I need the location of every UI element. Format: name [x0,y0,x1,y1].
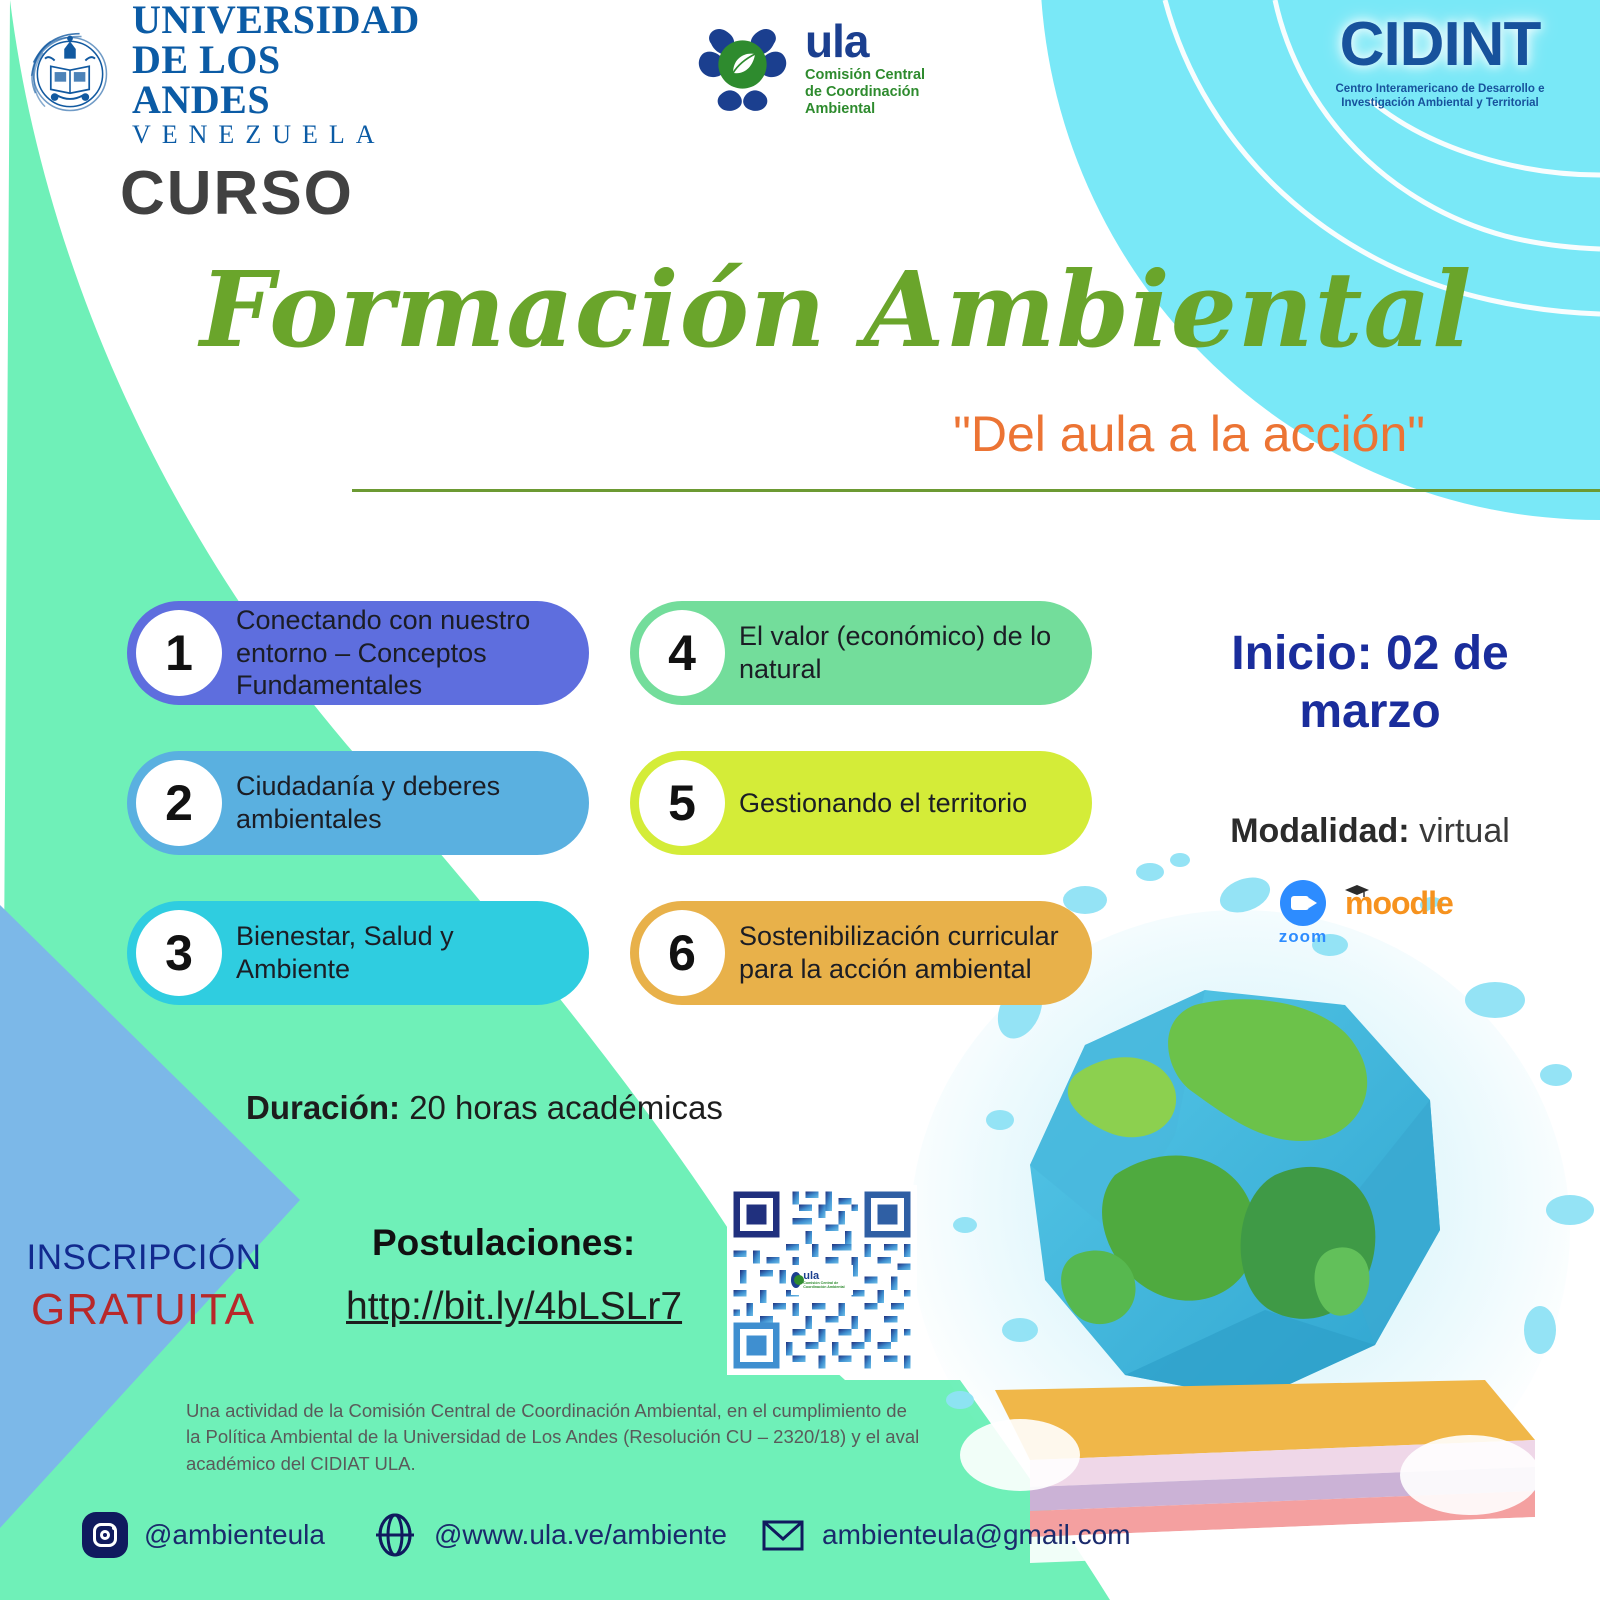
course-kicker: CURSO [120,158,354,229]
module-pill-6[interactable]: 6 Sostenibilización curricular para la a… [630,901,1092,1005]
cidiat-logo: CIDINT Centro Interamericano de Desarrol… [1290,14,1590,134]
ccca-name-line2: de Coordinación [805,84,925,101]
footer-contacts: @ambienteula @www.ula.ve/ambiente ambien… [0,1494,1600,1584]
module-number: 1 [136,610,222,696]
ula-hands-leaf-icon [690,12,795,117]
footer-instagram-handle: @ambienteula [144,1519,325,1551]
zoom-camera-icon [1280,880,1326,926]
modality-label: Modalidad: [1230,812,1409,850]
module-pill-5[interactable]: 5 Gestionando el territorio [630,751,1092,855]
instagram-icon [82,1512,128,1558]
registration-free-label: GRATUITA [18,1285,268,1335]
ccca-acronym: ula [805,20,925,64]
start-date-text: Inicio: 02 de marzo [1190,625,1550,740]
ula-logo-line2: DE LOS ANDES [132,40,420,120]
cidiat-name-line1: Centro Interamericano de Desarrollo e [1290,82,1590,96]
ccca-name-line3: Ambiental [805,101,925,118]
zoom-label: zoom [1268,927,1338,947]
moodle-label: moodle [1345,885,1453,922]
footer-website-url: @www.ula.ve/ambiente [434,1519,727,1551]
applications-label: Postulaciones: [372,1222,635,1264]
module-label: El valor (económico) de lo natural [739,620,1092,686]
module-number: 3 [136,910,222,996]
module-label: Gestionando el territorio [739,787,1043,820]
registration-label: INSCRIPCIÓN [24,1238,264,1278]
ula-logo-line1: UNIVERSIDAD [132,0,420,40]
application-url-link[interactable]: http://bit.ly/4bLSLr7 [346,1285,682,1329]
title-divider [352,489,1600,492]
ula-hands-leaf-icon [791,1272,801,1288]
page-title: Formación Ambiental [200,248,1200,371]
module-label: Conectando con nuestro entorno – Concept… [236,604,589,703]
envelope-icon [760,1512,806,1558]
modality-value: virtual [1419,812,1510,850]
footer-item-email[interactable]: ambienteula@gmail.com [760,1512,1131,1558]
qr-badge-subtitle: Comisión Central de Coordinación Ambient… [803,1282,853,1289]
duration-value: 20 horas académicas [409,1089,723,1126]
module-number: 2 [136,760,222,846]
module-pill-4[interactable]: 4 El valor (económico) de lo natural [630,601,1092,705]
footer-email-address: ambienteula@gmail.com [822,1519,1131,1551]
modality-text: Modalidad: virtual [1180,812,1560,851]
module-label: Sostenibilización curricular para la acc… [739,920,1092,986]
course-subtitle: "Del aula a la acción" [953,405,1425,463]
ccca-name-line1: Comisión Central [805,67,925,84]
ula-logo-line3: VENEZUELA [132,122,420,148]
module-pill-2[interactable]: 2 Ciudadanía y deberes ambientales [127,751,589,855]
zoom-logo: zoom [1268,880,1338,947]
footer-item-website[interactable]: @www.ula.ve/ambiente [372,1512,727,1558]
ccca-logo: ula Comisión Central de Coordinación Amb… [690,12,990,137]
qr-center-logo: ula Comisión Central de Coordinación Amb… [791,1265,853,1295]
cidiat-acronym: CIDINT [1290,14,1590,76]
module-pill-3[interactable]: 3 Bienestar, Salud y Ambiente [127,901,589,1005]
globe-icon [372,1512,418,1558]
ula-university-logo: UNIVERSIDAD DE LOS ANDES VENEZUELA [22,14,402,134]
duration-label: Duración: [246,1089,400,1126]
module-number: 6 [639,910,725,996]
poster-canvas: UNIVERSIDAD DE LOS ANDES VENEZUELA ula C… [0,0,1600,1600]
disclaimer-text: Una actividad de la Comisión Central de … [186,1398,926,1477]
qr-code[interactable]: ula Comisión Central de Coordinación Amb… [727,1185,917,1375]
ula-seal-icon [22,26,118,122]
module-label: Ciudadanía y deberes ambientales [236,770,589,836]
module-label: Bienestar, Salud y Ambiente [236,920,589,986]
footer-item-instagram[interactable]: @ambienteula [82,1512,325,1558]
cidiat-name-line2: Investigación Ambiental y Territorial [1290,96,1590,110]
module-number: 5 [639,760,725,846]
module-number: 4 [639,610,725,696]
duration-text: Duración: 20 horas académicas [246,1089,723,1127]
module-pill-1[interactable]: 1 Conectando con nuestro entorno – Conce… [127,601,589,705]
